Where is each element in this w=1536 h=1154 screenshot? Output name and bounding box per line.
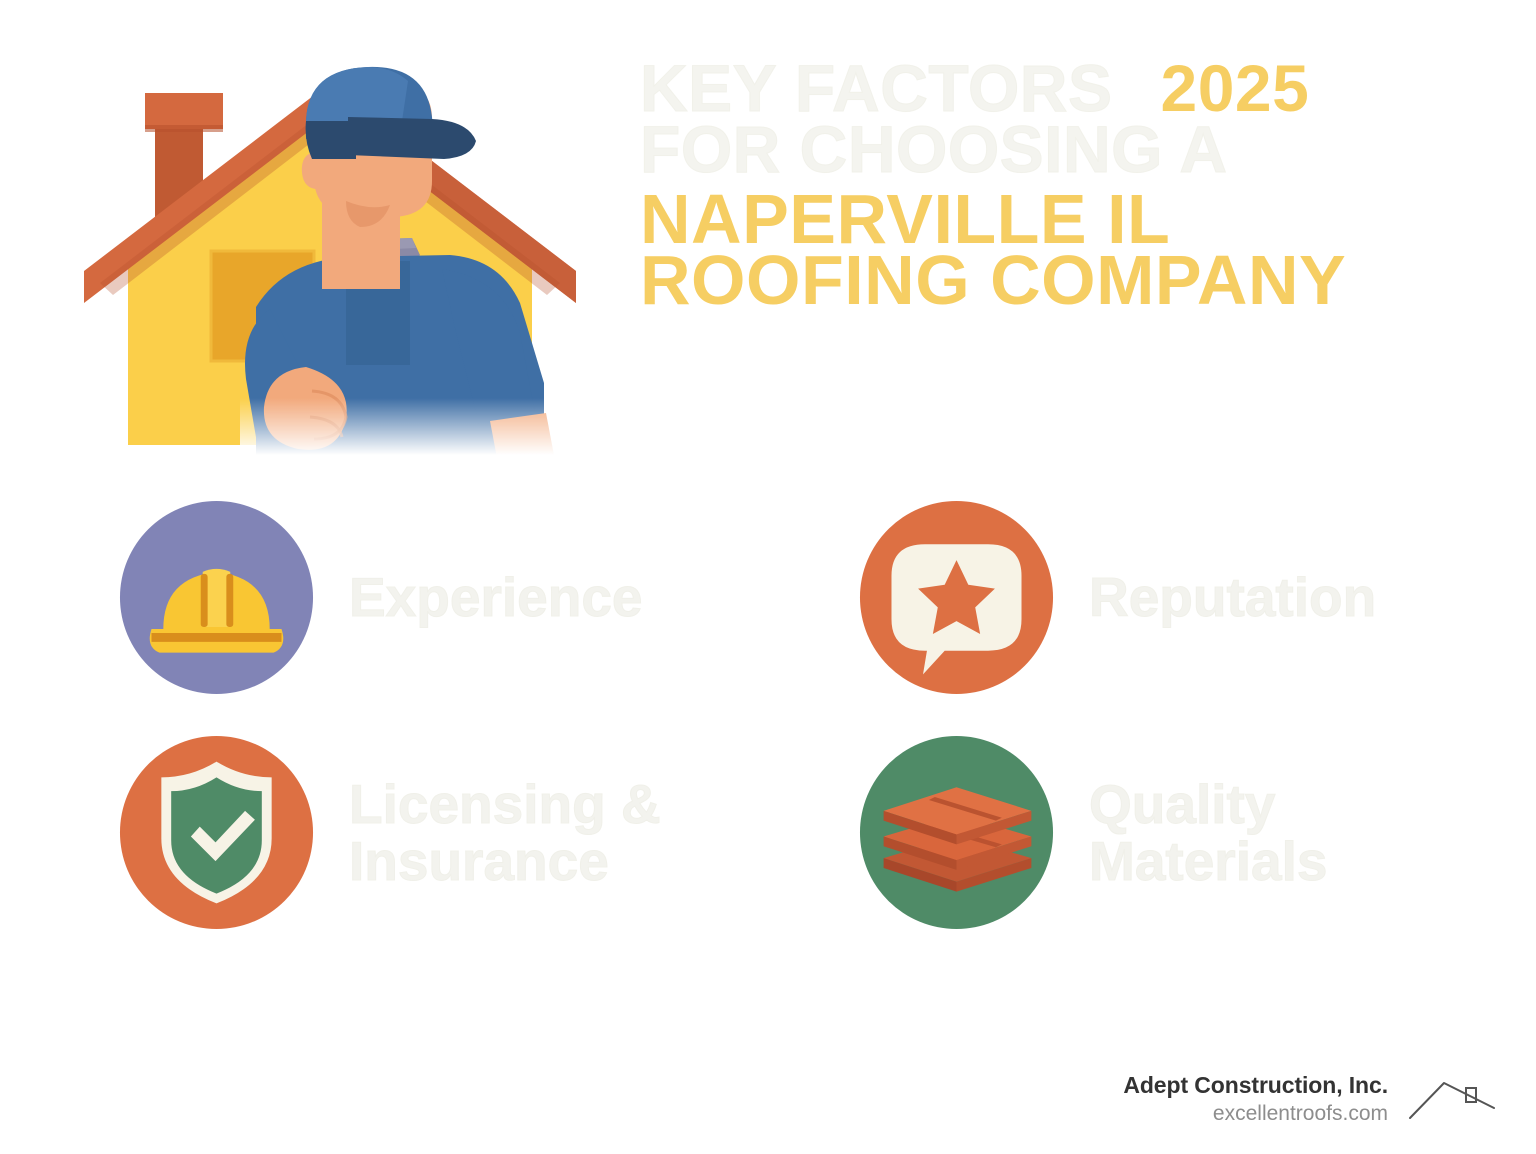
factor-item-experience: Experience	[118, 495, 738, 700]
branding-footer: Adept Construction, Inc. excellentroofs.…	[1123, 1070, 1500, 1128]
headline-block: KEY FACTORS2025 FOR CHOOSING A NAPERVILL…	[640, 58, 1520, 313]
factor-label-reputation: Reputation	[1089, 569, 1376, 625]
shingle-stack-icon-svg	[858, 734, 1055, 931]
factor-item-licensing-insurance: Licensing & Insurance	[118, 730, 738, 935]
factor-label-quality-materials: Quality Materials	[1089, 776, 1327, 888]
review-star-speech-bubble-icon	[858, 499, 1055, 696]
infographic-canvas: KEY FACTORS2025 FOR CHOOSING A NAPERVILL…	[0, 0, 1536, 1154]
hard-hat-icon	[118, 499, 315, 696]
headline-line-1: KEY FACTORS2025	[640, 58, 1520, 119]
brand-text-block: Adept Construction, Inc. excellentroofs.…	[1123, 1072, 1388, 1126]
hard-hat-icon-svg	[118, 499, 315, 696]
factor-item-reputation: Reputation	[858, 495, 1478, 700]
shingle-stack-icon	[858, 734, 1055, 931]
company-website[interactable]: excellentroofs.com	[1123, 1102, 1388, 1126]
headline-line-4: ROOFING COMPANY	[640, 248, 1520, 313]
factor-item-quality-materials: Quality Materials	[858, 730, 1478, 935]
illustration-svg	[60, 55, 630, 455]
review-star-speech-bubble-icon-svg	[858, 499, 1055, 696]
shield-check-icon-svg	[118, 734, 315, 931]
company-name: Adept Construction, Inc.	[1123, 1072, 1388, 1099]
key-factors-grid: Experience Reputation	[0, 495, 1536, 945]
factor-label-licensing-insurance: Licensing & Insurance	[349, 776, 661, 888]
roof-outline-logo	[1404, 1070, 1500, 1128]
factor-label-experience: Experience	[349, 569, 643, 625]
headline-line-2: FOR CHOOSING A	[640, 119, 1520, 180]
shield-check-icon	[118, 734, 315, 931]
roofer-with-hammer-and-house-illustration	[60, 55, 630, 455]
